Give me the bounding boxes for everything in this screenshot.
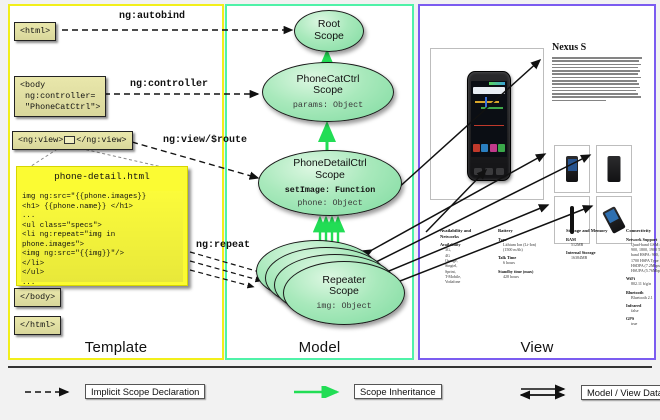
scope-repeater-prop-img: img: Object [316,301,371,311]
scope-phonedetailctrl-label: PhoneDetailCtrl Scope [293,158,367,182]
label-ng-repeat: ng:repeat [196,240,250,251]
phone-screen [471,81,507,157]
spec-heading: Battery [498,228,560,234]
scope-phonecatctrl-prop-params: params: Object [293,100,363,110]
code-tag-ngview[interactable]: <ng:view></ng:view> [12,131,133,150]
phone-thumbnail[interactable] [554,145,590,193]
phone-wallpaper-line-3 [485,97,487,107]
spec-heading: Availability and Networks [440,228,492,239]
spec-column: Battery Type Lithium Ion (Li-Ion) (1500 … [498,228,560,279]
code-tag-body-close[interactable]: </body> [14,288,61,307]
legend-label-implicit: Implicit Scope Declaration [85,384,205,399]
view-document-title: Nexus S [552,42,586,53]
scope-root[interactable]: Root Scope [294,10,364,52]
label-ng-controller: ng:controller [130,79,208,90]
panel-view-title: View [420,339,654,356]
scope-phonecatctrl[interactable]: PhoneCatCtrl Scope params: Object [262,62,394,122]
phone-hero-image-frame [430,48,544,200]
sticky-note-title: phone-detail.html [17,171,187,182]
scope-repeater-line2: Scope [329,285,359,297]
view-document-body-text [552,57,642,103]
spec-value: Quad-band GSM: 850, 900, 1800, 1900 Tri-… [626,242,660,274]
phone-app-icon [481,144,488,152]
spec-column: Storage and Memory RAM 512MB Internal St… [566,228,620,260]
legend-dashed-arrow-icon [24,386,78,398]
spec-value: Lithium Ion (Li-Ion) (1500 mAh) [498,242,560,253]
legend-item-data-binding: Model / View Data-binding [520,384,660,400]
spec-value: 428 hours [498,274,560,279]
spec-value: true [626,321,660,326]
scope-repeater-line1: Repeater [322,274,365,286]
spec-heading: Connectivity [626,228,660,234]
sticky-note-code: img ng:src="{{phone.images}} <h1> {{phon… [22,193,184,288]
spec-value: false [626,308,660,313]
spec-value: Bluetooth 2.1 [626,295,660,300]
spec-value: 3G, 4G Orange, Singtel, Sprint, T-Mobile… [440,247,492,284]
code-tag-html-close[interactable]: </html> [14,316,61,335]
code-tag-body[interactable]: <body ng:controller= "PhoneCatCtrl"> [14,76,106,117]
code-tag-ngview-close: </ng:view> [76,135,126,145]
ngview-placeholder-icon [64,136,75,144]
code-tag-html[interactable]: <html> [14,22,56,41]
panel-model-title: Model [227,339,412,356]
spec-column: Availability and Networks Availability 3… [440,228,492,284]
phone-app-dock [473,144,505,154]
scope-root-line2: Scope [314,30,344,42]
phone-wallpaper-line-4 [474,125,504,126]
phone-thumbnail[interactable] [596,145,632,193]
phone-button [496,168,504,175]
legend-item-implicit-scope-declaration: Implicit Scope Declaration [24,384,205,399]
scope-phonedetailctrl-prop-setimage: setImage: Function [285,185,375,195]
scope-repeater-label: Repeater Scope [322,275,365,299]
spec-value: 16384MB [566,255,620,260]
phone-app-icon [498,144,505,152]
phone-searchbar [473,87,505,94]
phone-device-illustration [467,71,511,181]
scope-phonedetailctrl-line2: Scope [315,169,345,181]
phone-button [485,168,493,175]
phone-wallpaper-line-2 [481,107,503,109]
phone-statusbar [489,82,505,85]
phone-app-icon [473,144,480,152]
phone-thumbnail-image [608,156,621,182]
scope-phonecatctrl-label: PhoneCatCtrl Scope [296,74,359,98]
legend-double-arrow-icon [520,384,574,400]
scope-phonecatctrl-line2: Scope [313,84,343,96]
phone-thumbnail-image [566,156,578,182]
spec-subheading: Network Support [626,237,660,242]
code-tag-ngview-open: <ng:view> [18,135,63,145]
scope-root-label: Root Scope [314,19,344,43]
legend-divider [8,366,652,368]
spec-value: 512MB [566,242,620,247]
label-ng-autobind: ng:autobind [119,11,185,22]
scope-phonedetailctrl[interactable]: PhoneDetailCtrl Scope setImage: Function… [258,150,402,216]
scope-repeater[interactable]: Repeater Scope img: Object [283,261,405,325]
phone-app-icon [490,144,497,152]
legend: Implicit Scope Declaration Scope Inherit… [8,366,652,416]
scope-phonecatctrl-line1: PhoneCatCtrl [296,73,359,85]
scope-phonedetailctrl-prop-phone: phone: Object [297,198,362,208]
scope-phonedetailctrl-line1: PhoneDetailCtrl [293,157,367,169]
panel-template-title: Template [10,339,222,356]
sticky-note-phone-detail[interactable]: phone-detail.html img ng:src="{{phone.im… [16,166,188,286]
spec-column: Connectivity Network Support Quad-band G… [626,228,660,326]
legend-label-inheritance: Scope Inheritance [354,384,442,399]
scope-root-line1: Root [318,18,340,30]
diagram-root: Template Model View [0,0,660,420]
phone-button [474,168,482,175]
label-ng-view-route: ng:view/$route [163,135,247,146]
phone-wallpaper-line-1 [475,101,499,103]
spec-value: 6 hours [498,260,560,265]
spec-heading: Storage and Memory [566,228,620,234]
spec-value: 802.11 b/g/n [626,281,660,286]
legend-green-arrow-icon [293,386,347,398]
legend-item-scope-inheritance: Scope Inheritance [293,384,442,399]
legend-label-binding: Model / View Data-binding [581,385,660,400]
phone-hardware-buttons [472,165,506,177]
